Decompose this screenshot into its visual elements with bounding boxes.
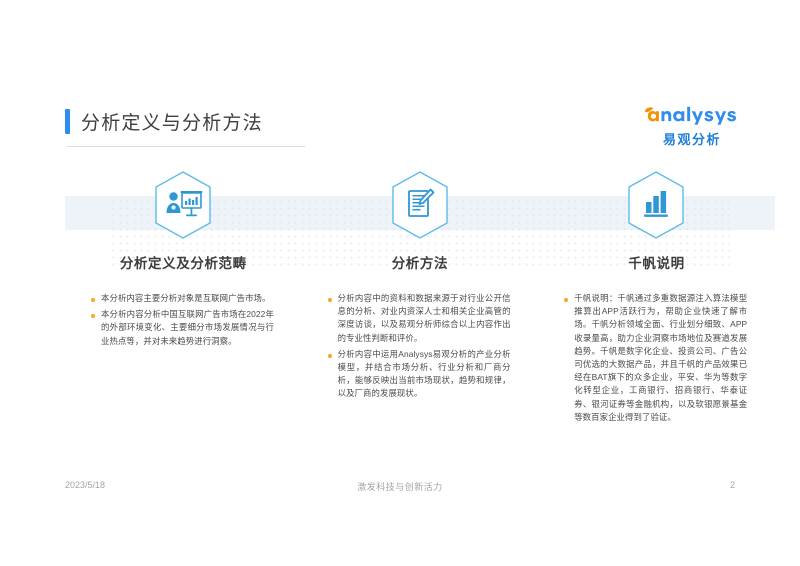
title-accent-bar xyxy=(65,109,70,134)
title-underline xyxy=(67,146,305,147)
column-analysis-definition: 分析定义及分析范畴 本分析内容主要分析对象是互联网广告市场。 本分析内容分析中国… xyxy=(65,170,302,427)
slide-footer: 2023/5/18 激发科技与创新活力 2 xyxy=(65,480,735,496)
document-pencil-icon xyxy=(389,170,451,240)
page-title: 分析定义与分析方法 xyxy=(81,108,263,135)
bullet-item: 分析内容中的资料和数据来源于对行业公开信息的分析、对业内资深人士和相关企业高管的… xyxy=(328,292,511,345)
column-bullets: 本分析内容主要分析对象是互联网广告市场。 本分析内容分析中国互联网广告市场在20… xyxy=(91,292,274,351)
slide: 分析定义与分析方法 易观分析 xyxy=(0,0,800,566)
logo-wordmark-icon xyxy=(644,106,740,128)
column-title: 分析定义及分析范畴 xyxy=(120,252,247,272)
column-bullets: 千帆说明：千帆通过多重数据源注入算法模型推算出APP活跃行为，帮助企业快速了解市… xyxy=(564,292,747,427)
slide-header: 分析定义与分析方法 易观分析 xyxy=(65,98,740,148)
bullet-dot-icon xyxy=(91,298,95,302)
column-qianfan-description: 千帆说明 千帆说明：千帆通过多重数据源注入算法模型推算出APP活跃行为，帮助企业… xyxy=(538,170,775,427)
column-analysis-method: 分析方法 分析内容中的资料和数据来源于对行业公开信息的分析、对业内资深人士和相关… xyxy=(302,170,539,427)
bar-chart-icon xyxy=(625,170,687,240)
bullet-text: 本分析内容主要分析对象是互联网广告市场。 xyxy=(101,292,271,305)
footer-slogan: 激发科技与创新活力 xyxy=(65,480,735,493)
bullet-text: 分析内容中运用Analysys易观分析的产业分析模型，并结合市场分析、行业分析和… xyxy=(338,348,511,401)
person-presentation-chart-icon xyxy=(152,170,214,240)
bullet-dot-icon xyxy=(564,298,568,302)
column-bullets: 分析内容中的资料和数据来源于对行业公开信息的分析、对业内资深人士和相关企业高管的… xyxy=(328,292,511,404)
content-columns: 分析定义及分析范畴 本分析内容主要分析对象是互联网广告市场。 本分析内容分析中国… xyxy=(65,170,775,427)
logo-chinese-name: 易观分析 xyxy=(644,129,740,148)
column-title: 分析方法 xyxy=(392,252,448,272)
title-group: 分析定义与分析方法 xyxy=(65,108,263,135)
bullet-item: 本分析内容分析中国互联网广告市场在2022年的外部环境变化、主要细分市场发展情况… xyxy=(91,308,274,348)
footer-page-number: 2 xyxy=(730,480,735,490)
bullet-dot-icon xyxy=(328,298,332,302)
bullet-text: 本分析内容分析中国互联网广告市场在2022年的外部环境变化、主要细分市场发展情况… xyxy=(101,308,274,348)
bullet-item: 千帆说明：千帆通过多重数据源注入算法模型推算出APP活跃行为，帮助企业快速了解市… xyxy=(564,292,747,424)
bullet-text: 千帆说明：千帆通过多重数据源注入算法模型推算出APP活跃行为，帮助企业快速了解市… xyxy=(574,292,747,424)
bullet-dot-icon xyxy=(328,354,332,358)
bullet-dot-icon xyxy=(91,314,95,318)
analysys-logo: 易观分析 xyxy=(644,106,740,148)
bullet-item: 分析内容中运用Analysys易观分析的产业分析模型，并结合市场分析、行业分析和… xyxy=(328,348,511,401)
bullet-text: 分析内容中的资料和数据来源于对行业公开信息的分析、对业内资深人士和相关企业高管的… xyxy=(338,292,511,345)
page-frame: 分析定义与分析方法 易观分析 xyxy=(20,20,780,546)
bullet-item: 本分析内容主要分析对象是互联网广告市场。 xyxy=(91,292,274,305)
column-title: 千帆说明 xyxy=(628,252,684,272)
